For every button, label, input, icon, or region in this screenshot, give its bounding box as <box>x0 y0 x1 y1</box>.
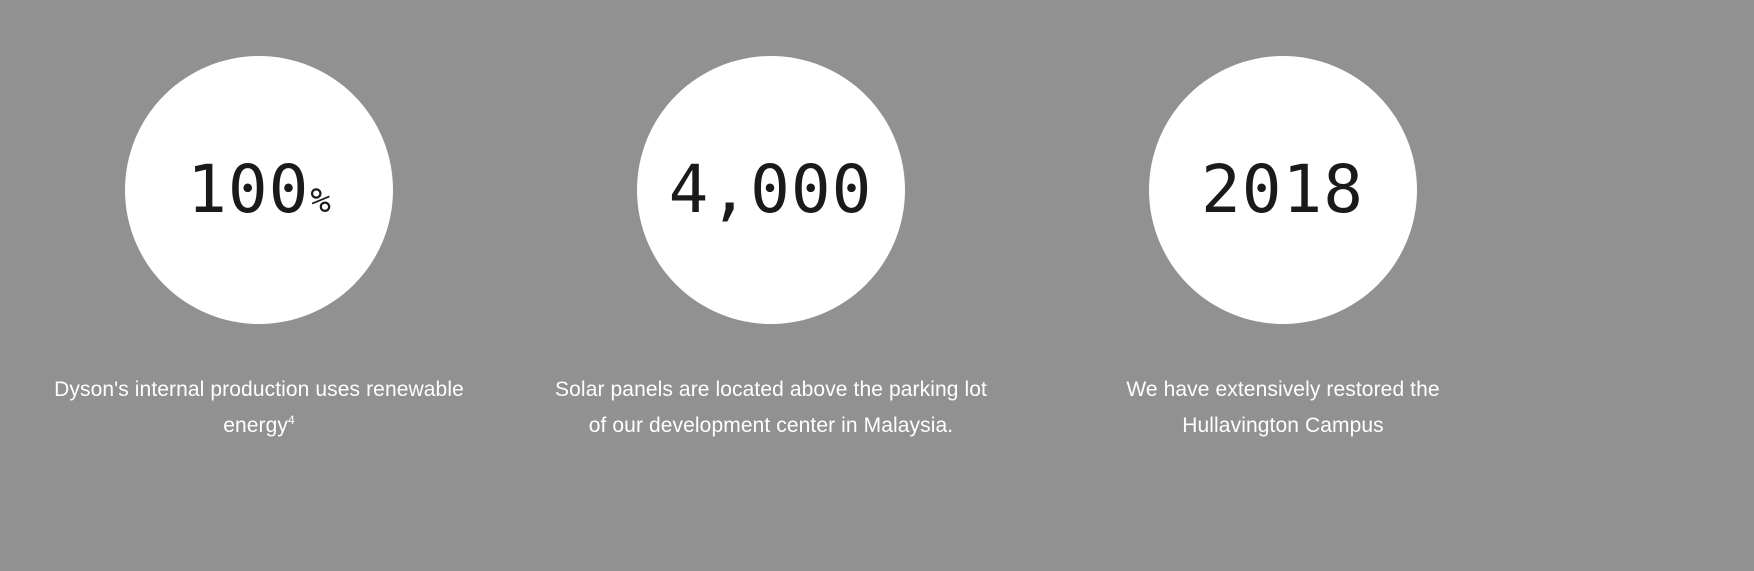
stat-circle-3: 2018 <box>1149 56 1417 324</box>
stat-circle-1: 100% <box>125 56 393 324</box>
stats-band: 100% Dyson's internal production uses re… <box>0 0 1754 571</box>
stat-number-unit-1: % <box>310 184 330 218</box>
stat-number-2: 4,000 <box>669 157 874 223</box>
stat-caption-1: Dyson's internal production uses renewab… <box>44 372 474 444</box>
stat-number-1: 100% <box>187 157 331 223</box>
stat-caption-footnote-1: 4 <box>288 413 295 427</box>
stat-column-3: 2018 We have extensively restored the Hu… <box>1027 0 1539 444</box>
stat-caption-text-2: Solar panels are located above the parki… <box>555 378 987 437</box>
stat-number-value-2: 4,000 <box>669 157 873 223</box>
stat-number-value-3: 2018 <box>1201 157 1364 223</box>
stat-circle-2: 4,000 <box>637 56 905 324</box>
stat-number-value-1: 100 <box>187 157 309 223</box>
stat-column-2: 4,000 Solar panels are located above the… <box>515 0 1027 444</box>
stat-caption-text-3: We have extensively restored the Hullavi… <box>1126 378 1439 437</box>
stat-caption-2: Solar panels are located above the parki… <box>551 372 991 444</box>
stat-caption-text-1: Dyson's internal production uses renewab… <box>54 378 464 437</box>
stat-caption-3: We have extensively restored the Hullavi… <box>1083 372 1483 444</box>
stat-number-3: 2018 <box>1201 157 1365 223</box>
stat-column-1: 100% Dyson's internal production uses re… <box>3 0 515 444</box>
